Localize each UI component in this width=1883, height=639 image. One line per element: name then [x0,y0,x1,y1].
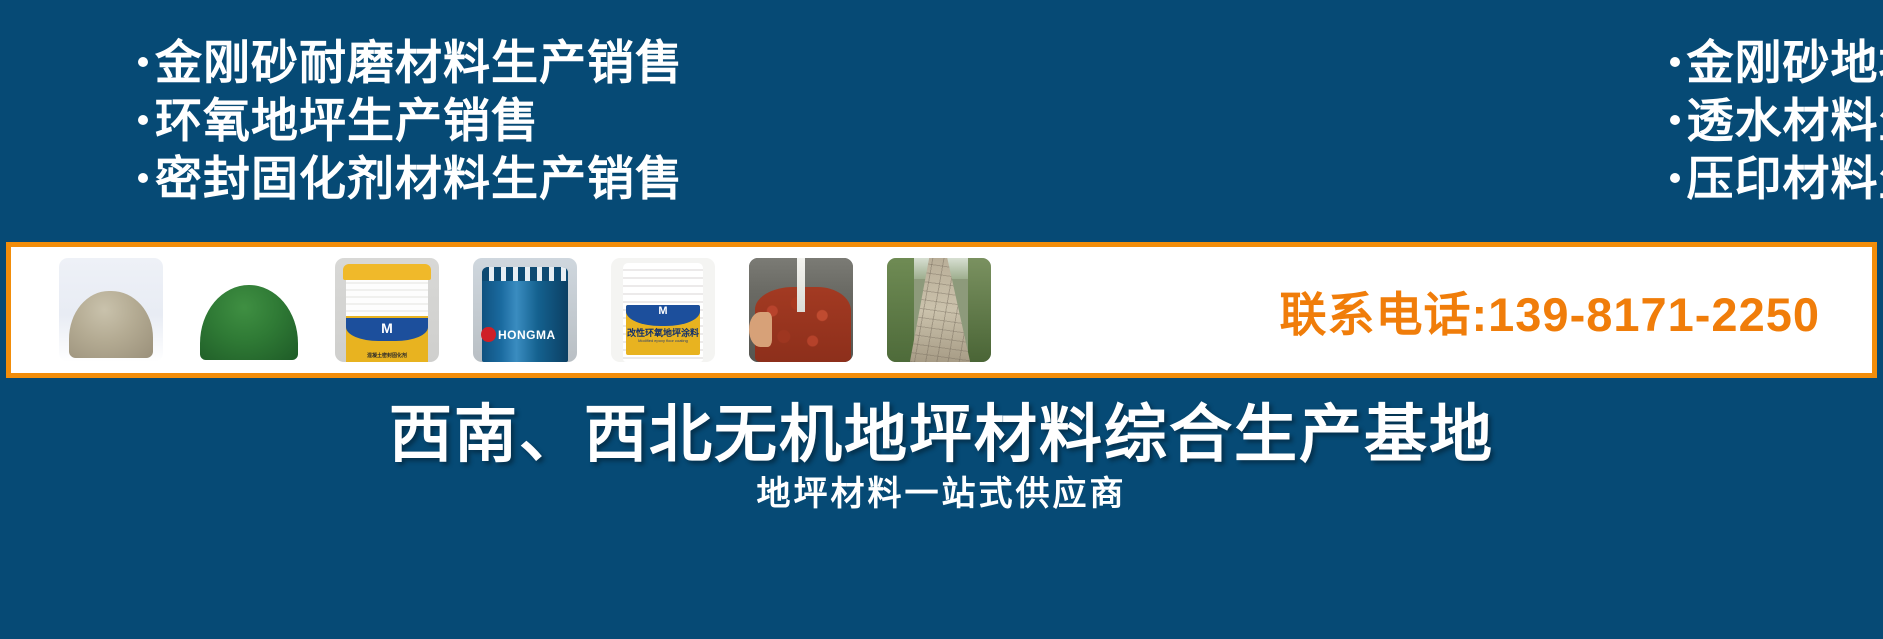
product-photo-stamped-walkway [887,258,991,362]
bullet-dot-icon [1670,57,1680,67]
feature-item-label: 金刚砂耐磨材料生产销售 [155,36,683,89]
bullet-dot-icon [138,115,148,125]
feature-item: 金刚砂地坪材料OEM代加工 [1670,34,1883,92]
feature-item-label: 密封固化剂材料生产销售 [155,152,683,205]
walkway-grass-left [887,258,914,362]
feature-item-label: 压印材料生产销售 [1687,152,1883,205]
product-photo-densifier-bucket: M 混凝土密封固化剂 [335,258,439,362]
brand-logo-m: M [626,305,701,317]
product-photo-list: M 混凝土密封固化剂 HONGMA M 改性环氧地坪涂料 Modified ep… [59,258,991,362]
contact-phone[interactable]: 联系电话:139-8171-2250 [1280,276,1821,345]
drum-brand-text: HONGMA [498,328,556,342]
bullet-dot-icon [138,57,148,67]
feature-item-label: 环氧地坪生产销售 [155,94,539,147]
bullet-dot-icon [138,173,148,183]
feature-item: 压印材料生产销售 [1670,150,1883,208]
feature-item: 透水材料生产销售 [1670,92,1883,150]
page-subtitle: 地坪材料一站式供应商 [0,466,1883,515]
product-photo-strip: M 混凝土密封固化剂 HONGMA M 改性环氧地坪涂料 Modified ep… [6,242,1877,378]
feature-item: 金刚砂耐磨材料生产销售 [138,34,942,92]
bucket-label-text: 混凝土密封固化剂 [335,352,439,359]
feature-item: 环氧地坪生产销售 [138,92,942,150]
feature-item: 密封固化剂材料生产销售 [138,150,942,208]
bucket-label: M 改性环氧地坪涂料 Modified epoxy floor coating [626,305,701,355]
feature-column-left: 金刚砂耐磨材料生产销售 环氧地坪生产销售 密封固化剂材料生产销售 [0,34,942,224]
brand-logo-m: M [335,320,439,336]
feature-item-label: 透水材料生产销售 [1687,94,1883,147]
product-photo-epoxy-coating-bucket: M 改性环氧地坪涂料 Modified epoxy floor coating [611,258,715,362]
product-photo-green-powder [197,258,301,362]
bullet-dot-icon [1670,115,1680,125]
drum-body [482,267,567,362]
hand [749,312,772,347]
bucket-lid [343,264,430,280]
bucket-label-text-en: Modified epoxy floor coating [626,338,701,343]
walkway-grass-right [968,258,991,362]
page-title: 西南、西北无机地坪材料综合生产基地 [0,384,1883,475]
product-photo-permeable-paving [749,258,853,362]
product-photo-grey-powder [59,258,163,362]
drum-clamp-ring [482,267,567,281]
feature-lists: 金刚砂耐磨材料生产销售 环氧地坪生产销售 密封固化剂材料生产销售 金刚砂地坪材料… [0,34,1883,224]
feature-item-label: 金刚砂地坪材料OEM代加工 [1687,36,1883,89]
promotional-banner: 金刚砂耐磨材料生产销售 环氧地坪生产销售 密封固化剂材料生产销售 金刚砂地坪材料… [0,0,1883,639]
pour-stream [797,258,805,312]
hongma-logo-mark-icon [481,327,496,343]
feature-column-right: 金刚砂地坪材料OEM代加工 透水材料生产销售 压印材料生产销售 [942,34,1883,224]
bullet-dot-icon [1670,173,1680,183]
product-photo-hongma-drum: HONGMA [473,258,577,362]
